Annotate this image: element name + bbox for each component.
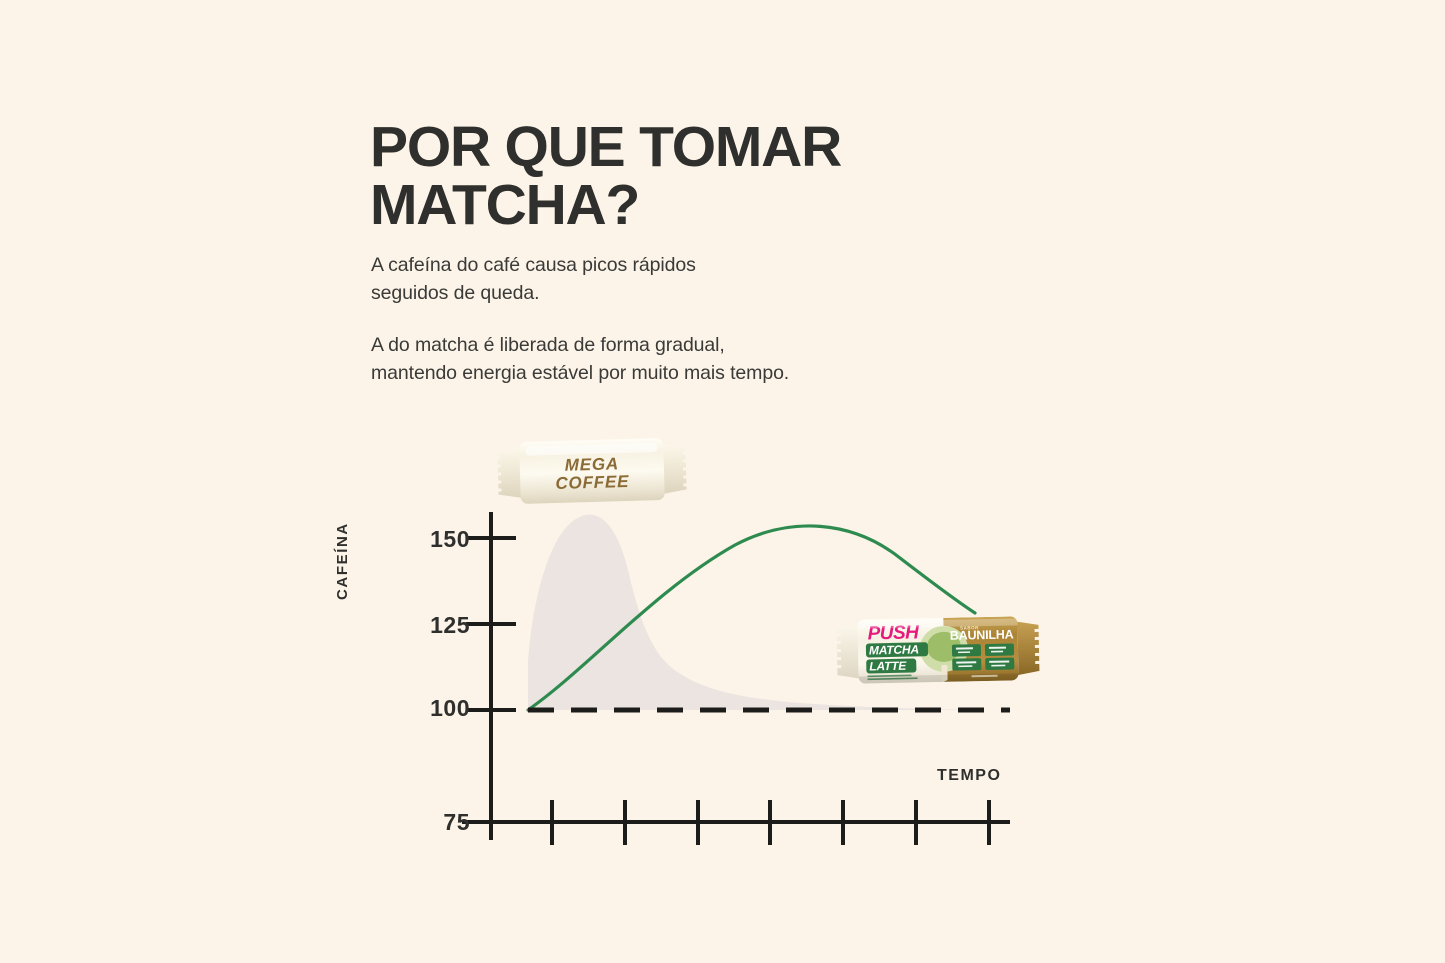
coffee-bar-name-line2: COFFEE [555, 472, 629, 493]
y-axis-tick-label-150: 150 [400, 526, 470, 553]
matcha-name-line1: MATCHA [869, 642, 919, 657]
y-axis-title: CAFEÍNA [334, 522, 351, 600]
matcha-badge-2 [985, 643, 1014, 656]
product-coffee-bar: MEGA COFFEE [495, 431, 689, 510]
matcha-flavor-name: BAUNILHA [950, 627, 1014, 642]
matcha-name-line2: LATTE [869, 659, 907, 674]
matcha-badge-1 [952, 644, 981, 657]
matcha-bar-illustration: PUSH MATCHA LATTE SABOR BAUNILHA [835, 611, 1041, 691]
y-axis-tick-label-125: 125 [400, 612, 470, 639]
caffeine-chart [0, 0, 1445, 963]
y-axis-tick-label-75: 75 [400, 809, 470, 836]
matcha-badge-4 [985, 657, 1014, 670]
chart-svg [0, 0, 1445, 963]
coffee-bar-right-crimp [661, 443, 686, 494]
poster-canvas: POR QUE TOMAR MATCHA? A cafeína do café … [0, 0, 1445, 963]
matcha-badge-3 [952, 658, 981, 671]
y-axis-tick-label-100: 100 [400, 695, 470, 722]
product-matcha-bar: PUSH MATCHA LATTE SABOR BAUNILHA [835, 611, 1041, 691]
coffee-bar-illustration: MEGA COFFEE [495, 431, 689, 510]
x-axis-title: TEMPO [937, 767, 1001, 785]
